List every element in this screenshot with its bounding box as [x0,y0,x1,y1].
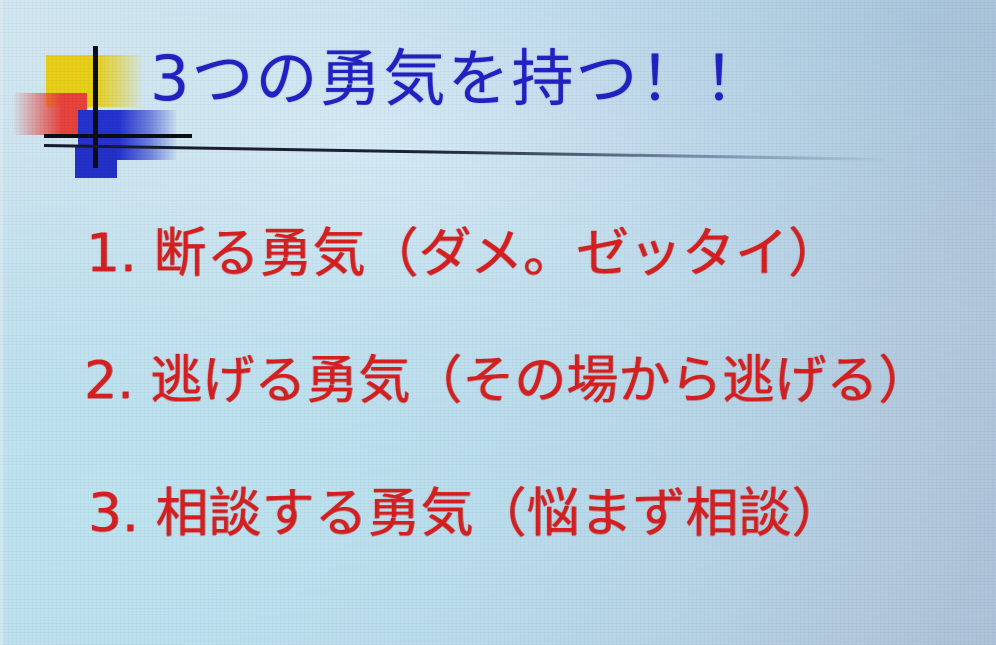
logo-red-square [14,93,87,135]
logo-vertical-line [93,46,98,168]
presentation-slide: 3つの勇気を持つ！！ 1. 断る勇気（ダメ。ゼッタイ） 2. 逃げる勇気（その場… [0,0,996,645]
logo-horizontal-line [44,134,192,138]
list-item: 2. 逃げる勇気（その場から逃げる） [84,355,930,407]
slide-title: 3つの勇気を持つ！！ [150,48,767,110]
list-item: 3. 相談する勇気（悩まず相談） [88,487,844,540]
list-item: 1. 断る勇気（ダメ。ゼッタイ） [86,227,841,280]
